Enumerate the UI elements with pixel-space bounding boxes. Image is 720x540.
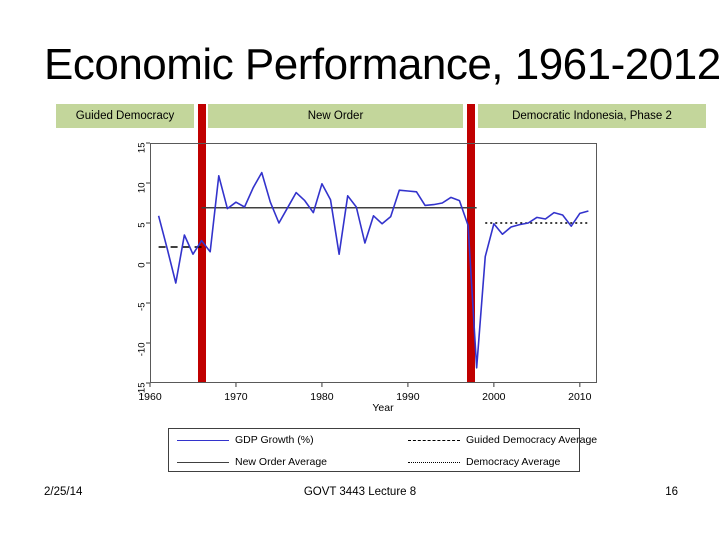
legend-item: Guided Democracy Average xyxy=(400,429,581,451)
footer-page-number: 16 xyxy=(665,486,678,526)
legend-key-icon xyxy=(408,456,460,468)
legend-item: GDP Growth (%) xyxy=(169,429,400,451)
legend-label: GDP Growth (%) xyxy=(235,434,314,446)
x-axis-title-text: Year xyxy=(372,402,393,414)
legend-label: Democracy Average xyxy=(466,456,560,468)
gdp-growth-chart: -15-10-5051015196019701980199020002010 Y… xyxy=(0,128,720,428)
y-tick-label: 15 xyxy=(137,143,148,173)
legend-label: New Order Average xyxy=(235,456,327,468)
y-tick-label: -5 xyxy=(137,303,148,333)
legend-key-icon xyxy=(177,456,229,468)
legend-key-icon xyxy=(408,434,460,446)
legend-label: Guided Democracy Average xyxy=(466,434,597,446)
regime-banner-guided-democracy: Guided Democracy xyxy=(56,104,194,128)
x-axis-title: Year xyxy=(0,402,720,414)
regime-banner-democratic-indonesia: Democratic Indonesia, Phase 2 xyxy=(478,104,706,128)
regime-banner-row: Guided Democracy New Order Democratic In… xyxy=(0,104,720,128)
legend-key-icon xyxy=(177,434,229,446)
y-tick-label: -10 xyxy=(137,343,148,373)
regime-banner-new-order: New Order xyxy=(208,104,463,128)
plot-frame xyxy=(150,143,597,383)
slide: Economic Performance, 1961-2012 Guided D… xyxy=(0,0,720,540)
chart-legend: GDP Growth (%)Guided Democracy AverageNe… xyxy=(168,428,580,472)
y-tick-label: 10 xyxy=(137,183,148,213)
legend-item: Democracy Average xyxy=(400,451,581,473)
y-tick-label: 5 xyxy=(137,223,148,253)
footer-course: GOVT 3443 Lecture 8 xyxy=(0,486,720,526)
legend-item: New Order Average xyxy=(169,451,400,473)
page-title: Economic Performance, 1961-2012 xyxy=(44,36,704,94)
y-tick-label: 0 xyxy=(137,263,148,293)
